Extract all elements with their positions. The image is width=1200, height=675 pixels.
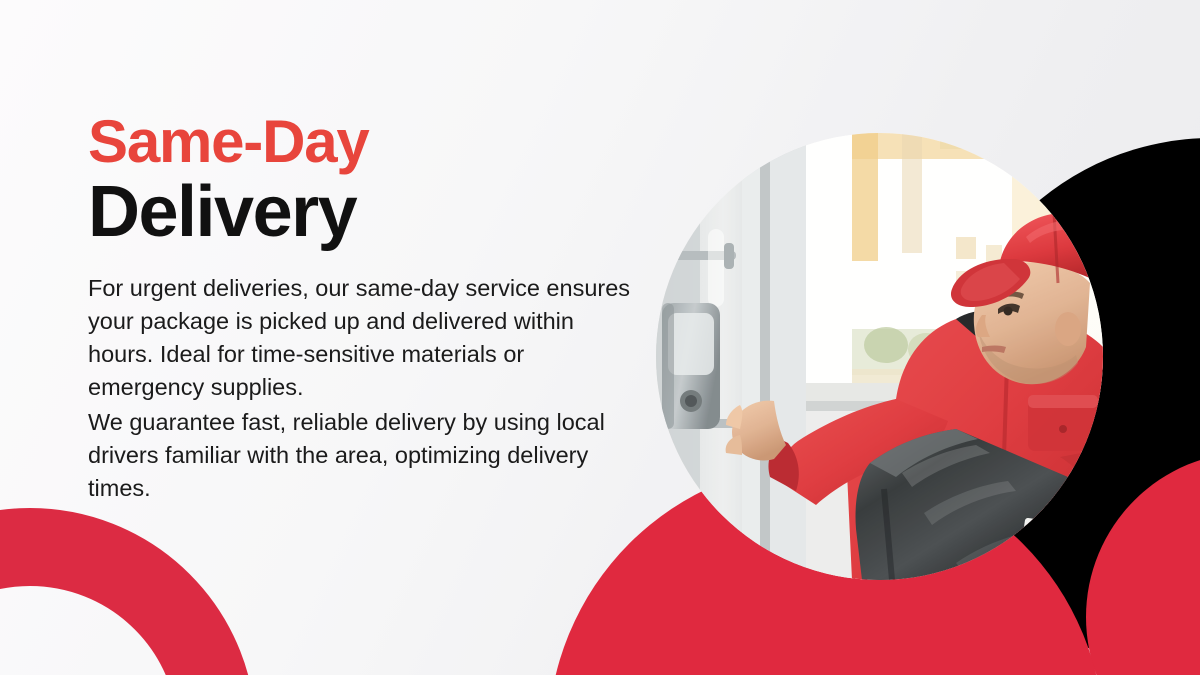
decorative-red-ring-bottom-left (0, 508, 256, 675)
slide-canvas: Same-Day Delivery For urgent deliveries,… (0, 0, 1200, 675)
page-title: Same-Day Delivery (88, 112, 640, 248)
headline-accent-line: Same-Day (88, 112, 640, 172)
body-paragraph-1: For urgent deliveries, our same-day serv… (88, 272, 640, 404)
text-content: Same-Day Delivery For urgent deliveries,… (88, 112, 640, 505)
courier-photo (656, 133, 1103, 580)
headline-main-line: Delivery (88, 176, 640, 248)
courier-photo-illustration (656, 133, 1103, 580)
body-paragraph-2: We guarantee fast, reliable delivery by … (88, 406, 640, 505)
